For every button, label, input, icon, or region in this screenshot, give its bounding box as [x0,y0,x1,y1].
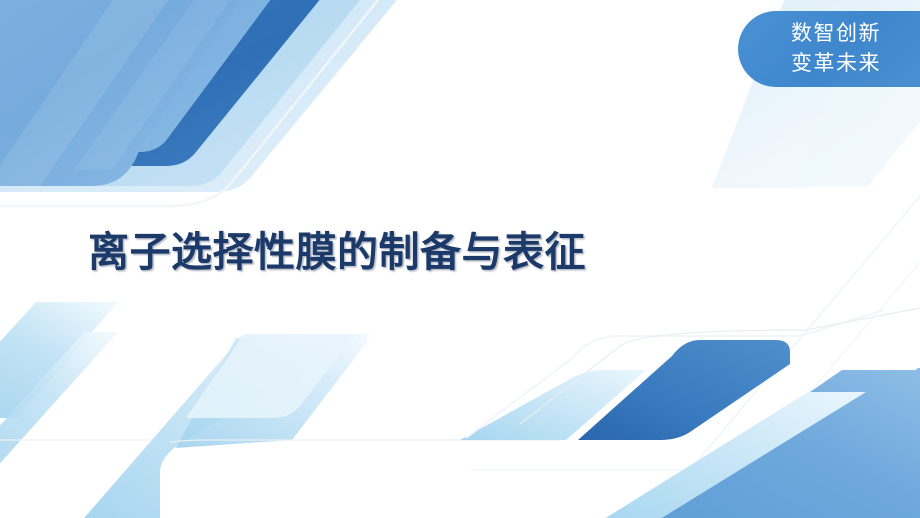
badge-line-2: 变革未来 [791,49,881,79]
title-block: 离子选择性膜的制备与表征 [88,228,586,276]
badge-line-1: 数智创新 [791,19,881,49]
corner-tagline-badge: 数智创新 变革未来 [738,11,920,87]
page-title: 离子选择性膜的制备与表征 [88,228,586,276]
presentation-slide: 离子选择性膜的制备与表征 数智创新 变革未来 [0,0,920,518]
